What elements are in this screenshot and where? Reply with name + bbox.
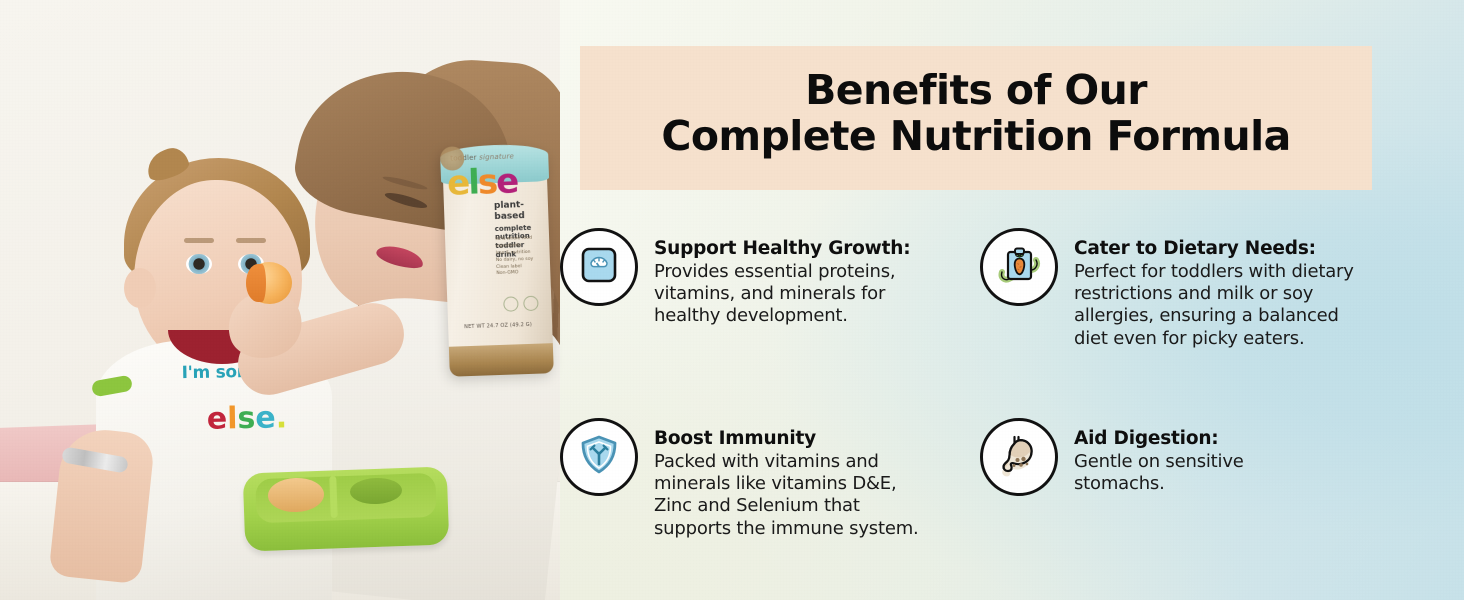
can-bullet-1: Iron & nutrition (496, 250, 531, 256)
can-base (449, 343, 554, 377)
can-bullet-3: Clean label (496, 264, 522, 270)
benefit-title: Cater to Dietary Needs: (1074, 238, 1354, 260)
promo-banner: I'm something else. toddler signature el… (0, 0, 1464, 600)
benefit-boost-immunity: Boost Immunity Packed with vitamins and … (560, 418, 980, 576)
can-bullet-2: No dairy, no soy (496, 256, 534, 262)
benefit-title: Aid Digestion: (1074, 428, 1244, 450)
can-bullet-0: 92% whole food ingredients (495, 236, 532, 249)
benefit-icon-circle (560, 228, 638, 306)
benefit-text: Cater to Dietary Needs: Perfect for todd… (1074, 228, 1354, 350)
benefit-title: Boost Immunity (654, 428, 919, 450)
title-line-2: Complete Nutrition Formula (580, 114, 1372, 160)
benefit-body-line: allergies, ensuring a balanced (1074, 305, 1354, 327)
benefit-body-line: vitamins, and minerals for (654, 283, 910, 305)
benefit-text: Aid Digestion: Gentle on sensitive stoma… (1074, 418, 1244, 495)
benefit-title: Support Healthy Growth: (654, 238, 910, 260)
benefit-icon-circle (980, 228, 1058, 306)
child-eyebrow-right (236, 238, 266, 243)
benefit-body: Provides essential proteins, vitamins, a… (654, 261, 910, 328)
benefit-icon-circle (980, 418, 1058, 496)
benefit-text: Support Healthy Growth: Provides essenti… (654, 228, 910, 328)
title-line-1: Benefits of Our (580, 68, 1372, 114)
product-can: toddler signature else plant-based compl… (440, 143, 556, 385)
can-desc-heading: plant-based (494, 199, 545, 223)
benefit-aid-digestion: Aid Digestion: Gentle on sensitive stoma… (980, 418, 1440, 576)
can-brand-logo: else (447, 169, 496, 199)
stomach-icon (996, 432, 1042, 483)
benefit-body: Gentle on sensitive stomachs. (1074, 451, 1244, 496)
plate-divider (329, 476, 337, 518)
benefit-body-line: Provides essential proteins, (654, 261, 910, 283)
benefit-body-line: Perfect for toddlers with dietary (1074, 261, 1354, 283)
can-tagline-script: signature (479, 152, 514, 161)
shirt-print-line-1: I'm (181, 363, 210, 383)
child-eye-left (186, 254, 212, 274)
benefit-icon-circle (560, 418, 638, 496)
benefit-body-line: minerals like vitamins D&E, (654, 473, 919, 495)
benefit-body: Perfect for toddlers with dietary restri… (1074, 261, 1354, 350)
benefit-body-line: healthy development. (654, 305, 910, 327)
benefit-body-line: Packed with vitamins and (654, 451, 919, 473)
child-eyebrow-left (184, 238, 214, 243)
benefit-body-line: Gentle on sensitive (1074, 451, 1244, 473)
benefit-body-line: diet even for picky eaters. (1074, 328, 1354, 350)
benefit-text: Boost Immunity Packed with vitamins and … (654, 418, 919, 540)
can-bullet-4: Non-GMO (496, 271, 518, 277)
benefit-cater-to-dietary-needs: Cater to Dietary Needs: Perfect for todd… (980, 228, 1440, 418)
can-bullets: 92% whole food ingredients Iron & nutrit… (495, 235, 546, 278)
benefit-body-line: stomachs. (1074, 473, 1244, 495)
immunity-shield-icon (577, 433, 621, 482)
benefit-support-healthy-growth: Support Healthy Growth: Provides essenti… (560, 228, 980, 418)
fruit-peel (246, 264, 266, 302)
page-title: Benefits of Our Complete Nutrition Formu… (580, 46, 1372, 160)
benefit-body-line: Zinc and Selenium that (654, 495, 919, 517)
weight-scale-icon (577, 243, 621, 292)
title-banner: Benefits of Our Complete Nutrition Formu… (580, 46, 1372, 190)
benefit-body-line: restrictions and milk or soy (1074, 283, 1354, 305)
child-ear (124, 268, 156, 308)
clipboard-carrot-icon (996, 242, 1042, 293)
shirt-print-logo: else. (172, 403, 323, 436)
benefit-body-line: supports the immune system. (654, 518, 919, 540)
benefits-grid: Support Healthy Growth: Provides essenti… (560, 228, 1450, 576)
benefit-body: Packed with vitamins and minerals like v… (654, 451, 919, 540)
